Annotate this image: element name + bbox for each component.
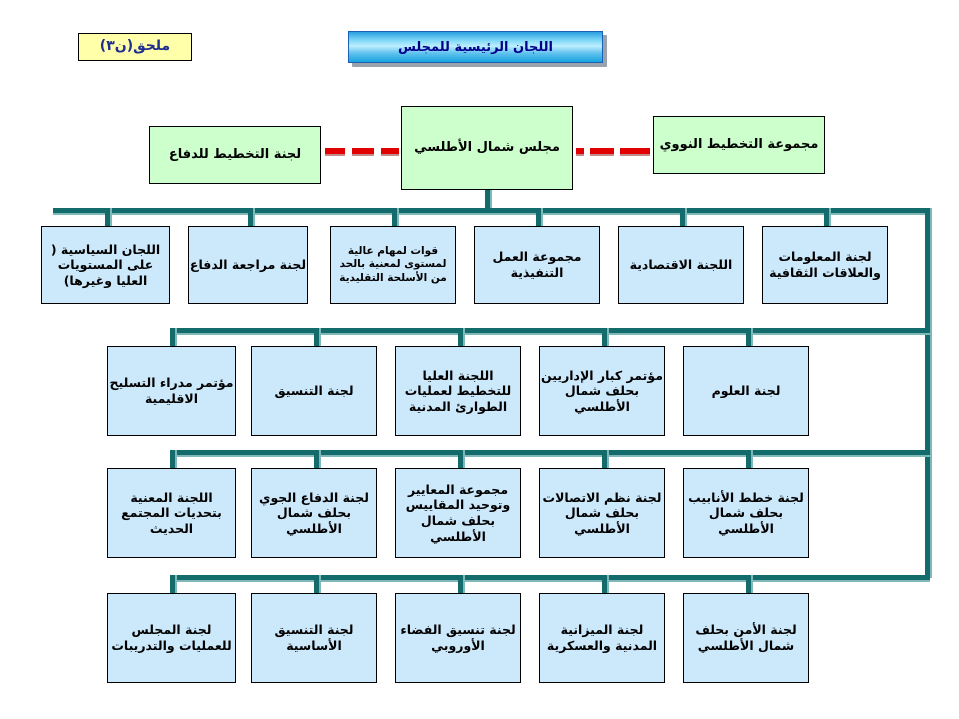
connector-right-spine <box>925 208 930 578</box>
chart-box-label: لجنة الدفاع الجوي بحلف شمال الأطلسي <box>252 490 376 537</box>
chart-box-label: لجنة خطط الأنابيب بحلف شمال الأطلسي <box>684 490 808 537</box>
red-dash-segment <box>381 148 399 154</box>
chart-box-row-4-1: لجنة المجلس للعمليات والتدريبات <box>107 593 236 683</box>
chart-box-label: لجنة تنسيق الفضاء الأوروبي <box>396 622 520 653</box>
connector-drop-row-4-box-1 <box>170 575 175 593</box>
chart-box-label: لجنة الميزانية المدنية والعسكرية <box>540 622 664 653</box>
connector-drop-row-3-box-3 <box>458 450 463 468</box>
red-dash-segment <box>325 148 345 154</box>
connector-council-stem <box>485 190 490 210</box>
chart-box-label: لجنة الأمن بحلف شمال الأطلسي <box>684 622 808 653</box>
chart-box-row-2-4: مؤتمر كبار الإداريين بحلف شمال الأطلسي <box>539 346 665 436</box>
connector-drop-row-4-box-5 <box>746 575 751 593</box>
chart-box-row-3-4: لجنة نظم الاتصالات بحلف شمال الأطلسي <box>539 468 665 558</box>
chart-box-label: مؤتمر مدراء التسليح الاقليمية <box>108 375 235 406</box>
connector-drop-row-4-box-3 <box>458 575 463 593</box>
chart-box-label: اللجنة المعنية بتحديات المجتمع الحديث <box>108 490 235 537</box>
connector-drop-row-2-box-3 <box>458 328 463 346</box>
connector-drop-row-3-box-1 <box>170 450 175 468</box>
chart-box-label: لجنة العلوم <box>712 383 781 399</box>
chart-box-label: لجنة مراجعة الدفاع <box>190 257 306 273</box>
red-dash-segment <box>352 148 374 154</box>
connector-drop-row-1-box-6 <box>824 208 829 226</box>
green-box-label: لجنة التخطيط للدفاع <box>169 147 301 163</box>
chart-box-label: لجنة التنسيق الأساسية <box>252 622 376 653</box>
connector-drop-row-3-box-2 <box>314 450 319 468</box>
chart-box-row-4-5: لجنة الأمن بحلف شمال الأطلسي <box>683 593 809 683</box>
chart-box-row-4-3: لجنة تنسيق الفضاء الأوروبي <box>395 593 521 683</box>
chart-box-row-2-3: اللجنة العليا للتخطيط لعمليات الطوارئ ال… <box>395 346 521 436</box>
chart-box-row-1-5: اللجنة الاقتصادية <box>618 226 744 304</box>
red-dash-segment <box>590 148 614 154</box>
connector-drop-row-2-box-4 <box>602 328 607 346</box>
chart-box-row-1-3: قوات لمهام عالية لمستوى لمعنية بالحد من … <box>330 226 456 304</box>
chart-box-row-1-6: لجنة المعلومات والعلاقات الثقافية <box>762 226 888 304</box>
chart-box-row-4-4: لجنة الميزانية المدنية والعسكرية <box>539 593 665 683</box>
connector-drop-row-1-box-2 <box>248 208 253 226</box>
connector-drop-row-2-box-2 <box>314 328 319 346</box>
chart-box-label: لجنة المجلس للعمليات والتدريبات <box>108 622 235 653</box>
connector-bus-row-1 <box>53 208 930 213</box>
green-box-defence-planning-committee: لجنة التخطيط للدفاع <box>149 126 321 184</box>
annex-label-box: ملحق(ن٣) <box>78 33 192 61</box>
connector-drop-row-4-box-2 <box>314 575 319 593</box>
chart-box-label: لجنة التنسيق <box>275 383 354 399</box>
page-title: اللجان الرئيسية للمجلس <box>348 31 603 63</box>
chart-box-row-2-5: لجنة العلوم <box>683 346 809 436</box>
green-box-north-atlantic-council: مجلس شمال الأطلسي <box>401 106 573 190</box>
chart-box-row-3-3: مجموعة المعايير وتوحيد المقاييس بحلف شما… <box>395 468 521 558</box>
chart-box-row-2-2: لجنة التنسيق <box>251 346 377 436</box>
chart-box-row-4-2: لجنة التنسيق الأساسية <box>251 593 377 683</box>
connector-drop-row-2-box-1 <box>170 328 175 346</box>
chart-box-label: لجنة المعلومات والعلاقات الثقافية <box>763 249 887 280</box>
connector-drop-row-3-box-4 <box>602 450 607 468</box>
chart-box-label: لجنة نظم الاتصالات بحلف شمال الأطلسي <box>540 490 664 537</box>
annex-label-text: ملحق(ن٣) <box>100 38 170 56</box>
page-title-text: اللجان الرئيسية للمجلس <box>398 40 553 55</box>
connector-drop-row-1-box-3 <box>392 208 397 226</box>
chart-box-label: مؤتمر كبار الإداريين بحلف شمال الأطلسي <box>540 368 664 415</box>
chart-box-row-3-1: اللجنة المعنية بتحديات المجتمع الحديث <box>107 468 236 558</box>
connector-drop-row-1-box-5 <box>680 208 685 226</box>
connector-drop-row-2-box-5 <box>746 328 751 346</box>
connector-bus-row-3 <box>170 450 930 455</box>
connector-drop-row-1-box-4 <box>536 208 541 226</box>
chart-box-label: اللجنة الاقتصادية <box>630 257 733 273</box>
connector-drop-row-1-box-1 <box>105 208 110 226</box>
org-chart-canvas: ملحق(ن٣) اللجان الرئيسية للمجلس لجنة الت… <box>0 0 959 719</box>
chart-box-row-3-2: لجنة الدفاع الجوي بحلف شمال الأطلسي <box>251 468 377 558</box>
chart-box-row-3-5: لجنة خطط الأنابيب بحلف شمال الأطلسي <box>683 468 809 558</box>
green-box-nuclear-planning-group: مجموعة التخطيط النووي <box>653 116 825 174</box>
chart-box-label: قوات لمهام عالية لمستوى لمعنية بالحد من … <box>331 245 455 284</box>
chart-box-row-2-1: مؤتمر مدراء التسليح الاقليمية <box>107 346 236 436</box>
chart-box-label: مجموعة العمل التنفيذية <box>475 249 599 280</box>
chart-box-row-1-1: اللجان السياسية ( على المستويات العليا و… <box>41 226 170 304</box>
chart-box-label: اللجنة العليا للتخطيط لعمليات الطوارئ ال… <box>396 368 520 415</box>
chart-box-label: اللجان السياسية ( على المستويات العليا و… <box>42 242 169 289</box>
chart-box-row-1-2: لجنة مراجعة الدفاع <box>188 226 308 304</box>
chart-box-row-1-4: مجموعة العمل التنفيذية <box>474 226 600 304</box>
green-box-label: مجموعة التخطيط النووي <box>660 137 819 153</box>
red-dash-segment <box>576 148 584 154</box>
red-dash-segment <box>620 148 650 154</box>
connector-drop-row-4-box-4 <box>602 575 607 593</box>
green-box-label: مجلس شمال الأطلسي <box>414 140 560 156</box>
connector-drop-row-3-box-5 <box>746 450 751 468</box>
chart-box-label: مجموعة المعايير وتوحيد المقاييس بحلف شما… <box>396 482 520 545</box>
connector-bus-row-4 <box>170 575 930 580</box>
connector-bus-row-2 <box>170 328 930 333</box>
